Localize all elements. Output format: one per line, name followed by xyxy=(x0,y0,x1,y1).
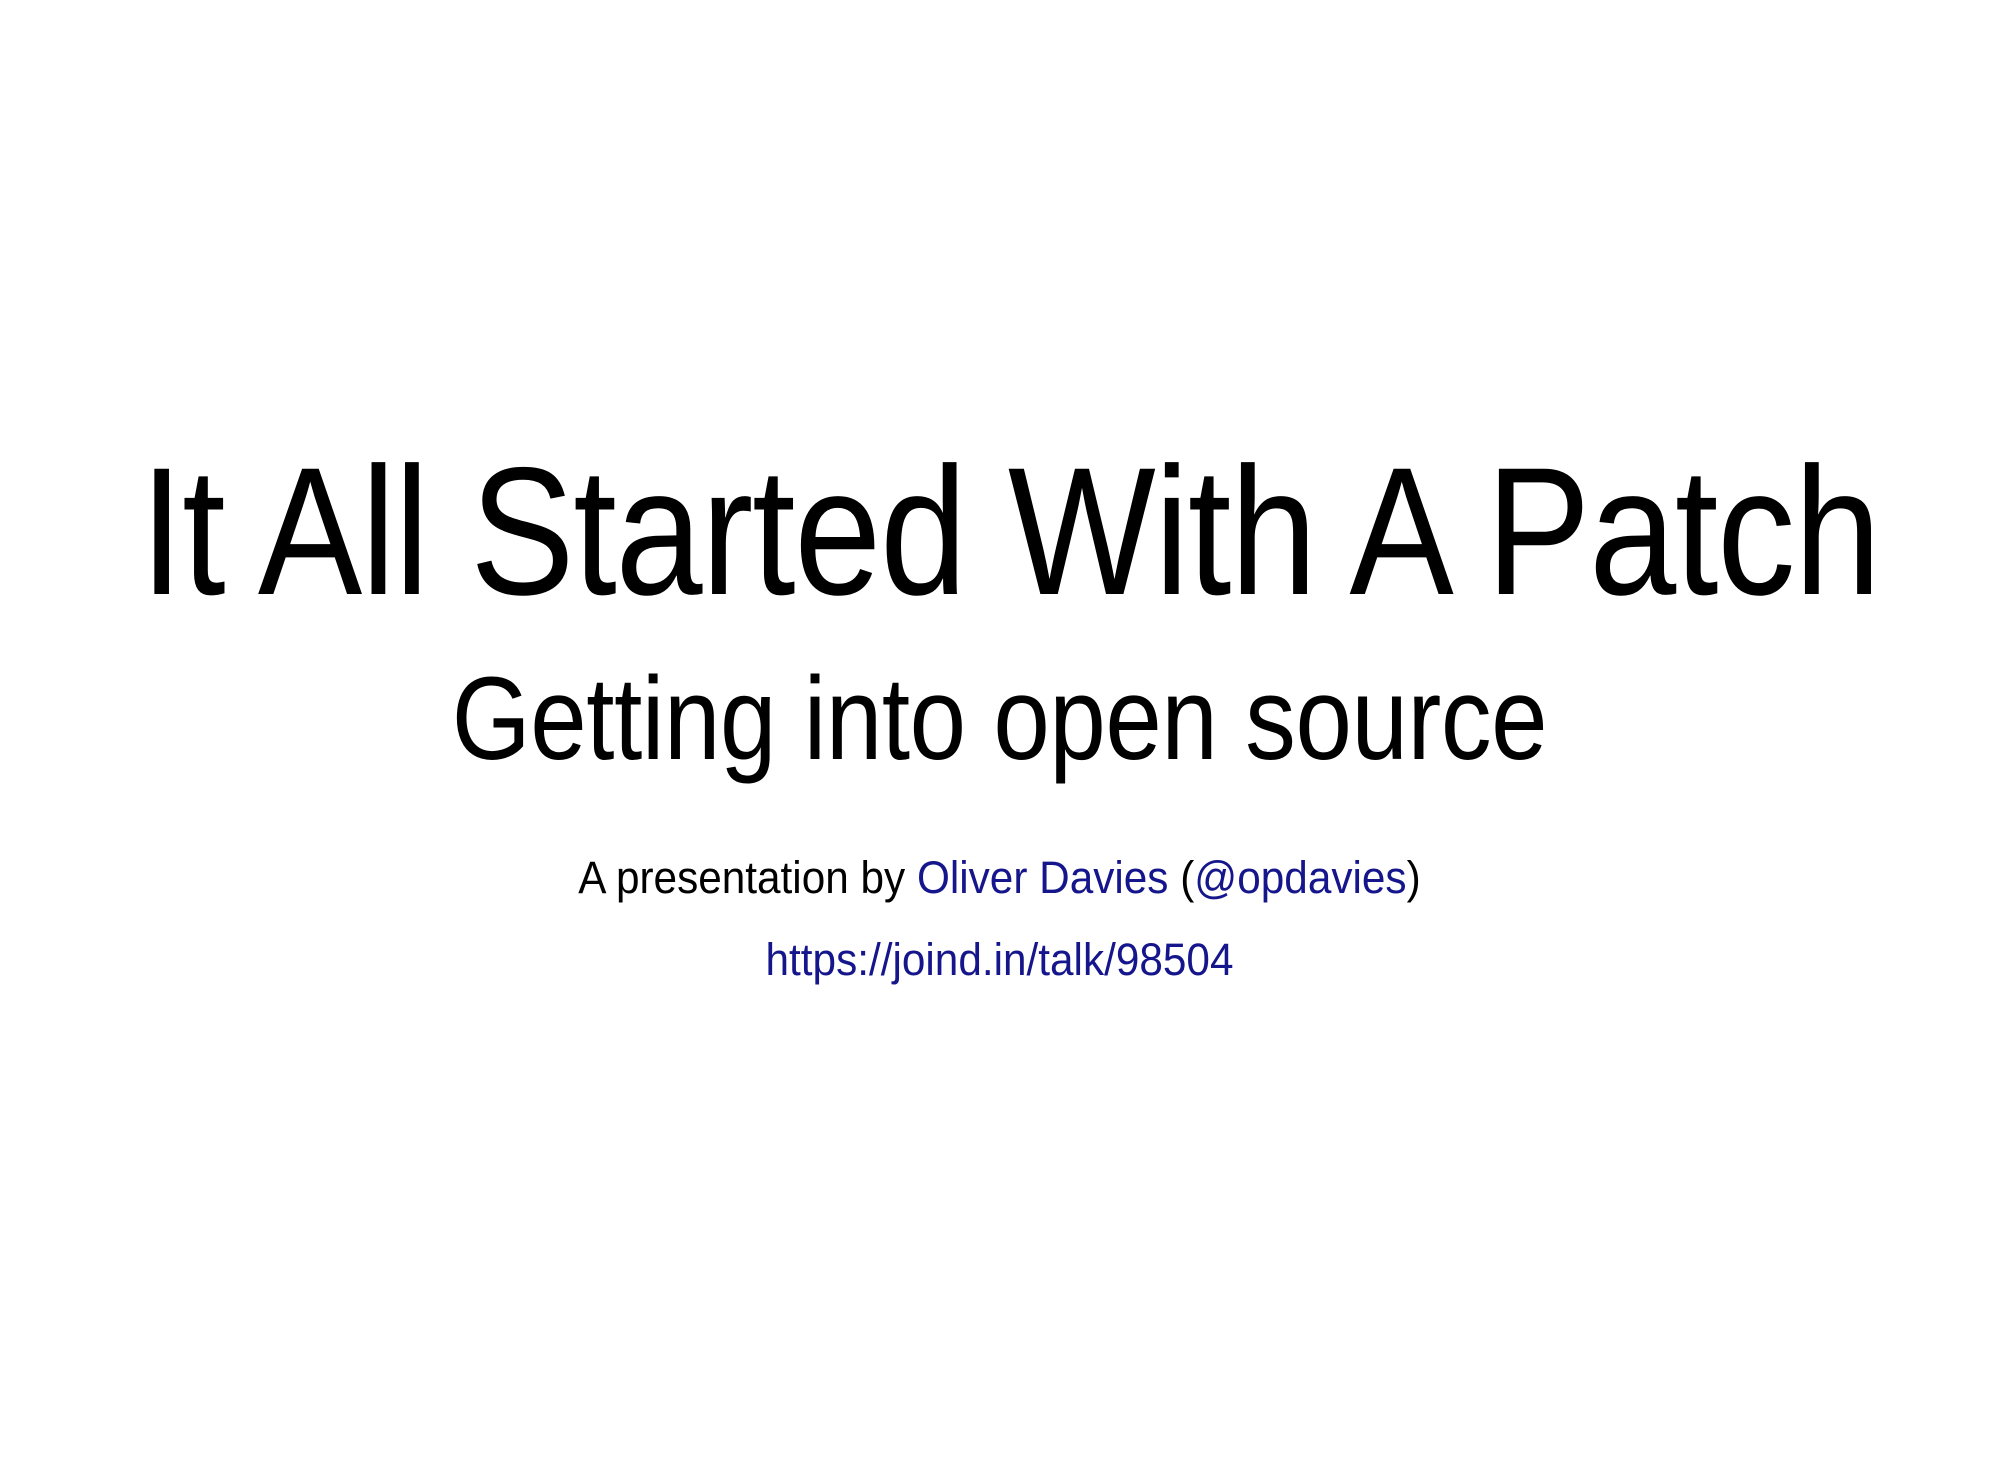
page-title: It All Started With A Patch xyxy=(140,440,1859,622)
handle-open-paren: ( xyxy=(1168,852,1194,903)
handle-close-paren: ) xyxy=(1407,852,1421,903)
author-handle-link[interactable]: @opdavies xyxy=(1194,852,1406,903)
page-subtitle: Getting into open source xyxy=(140,660,1859,778)
presenter-prefix-label: A presentation by xyxy=(578,852,917,903)
presenter-line: A presentation by Oliver Davies (@opdavi… xyxy=(60,852,1939,904)
author-name-link[interactable]: Oliver Davies xyxy=(917,852,1169,903)
talk-url-line: https://joind.in/talk/98504 xyxy=(60,934,1939,986)
presentation-slide: It All Started With A Patch Getting into… xyxy=(0,0,1999,1459)
slide-meta-block: A presentation by Oliver Davies (@opdavi… xyxy=(0,852,1999,986)
title-block: It All Started With A Patch Getting into… xyxy=(0,440,1999,778)
talk-url-link[interactable]: https://joind.in/talk/98504 xyxy=(766,934,1234,985)
